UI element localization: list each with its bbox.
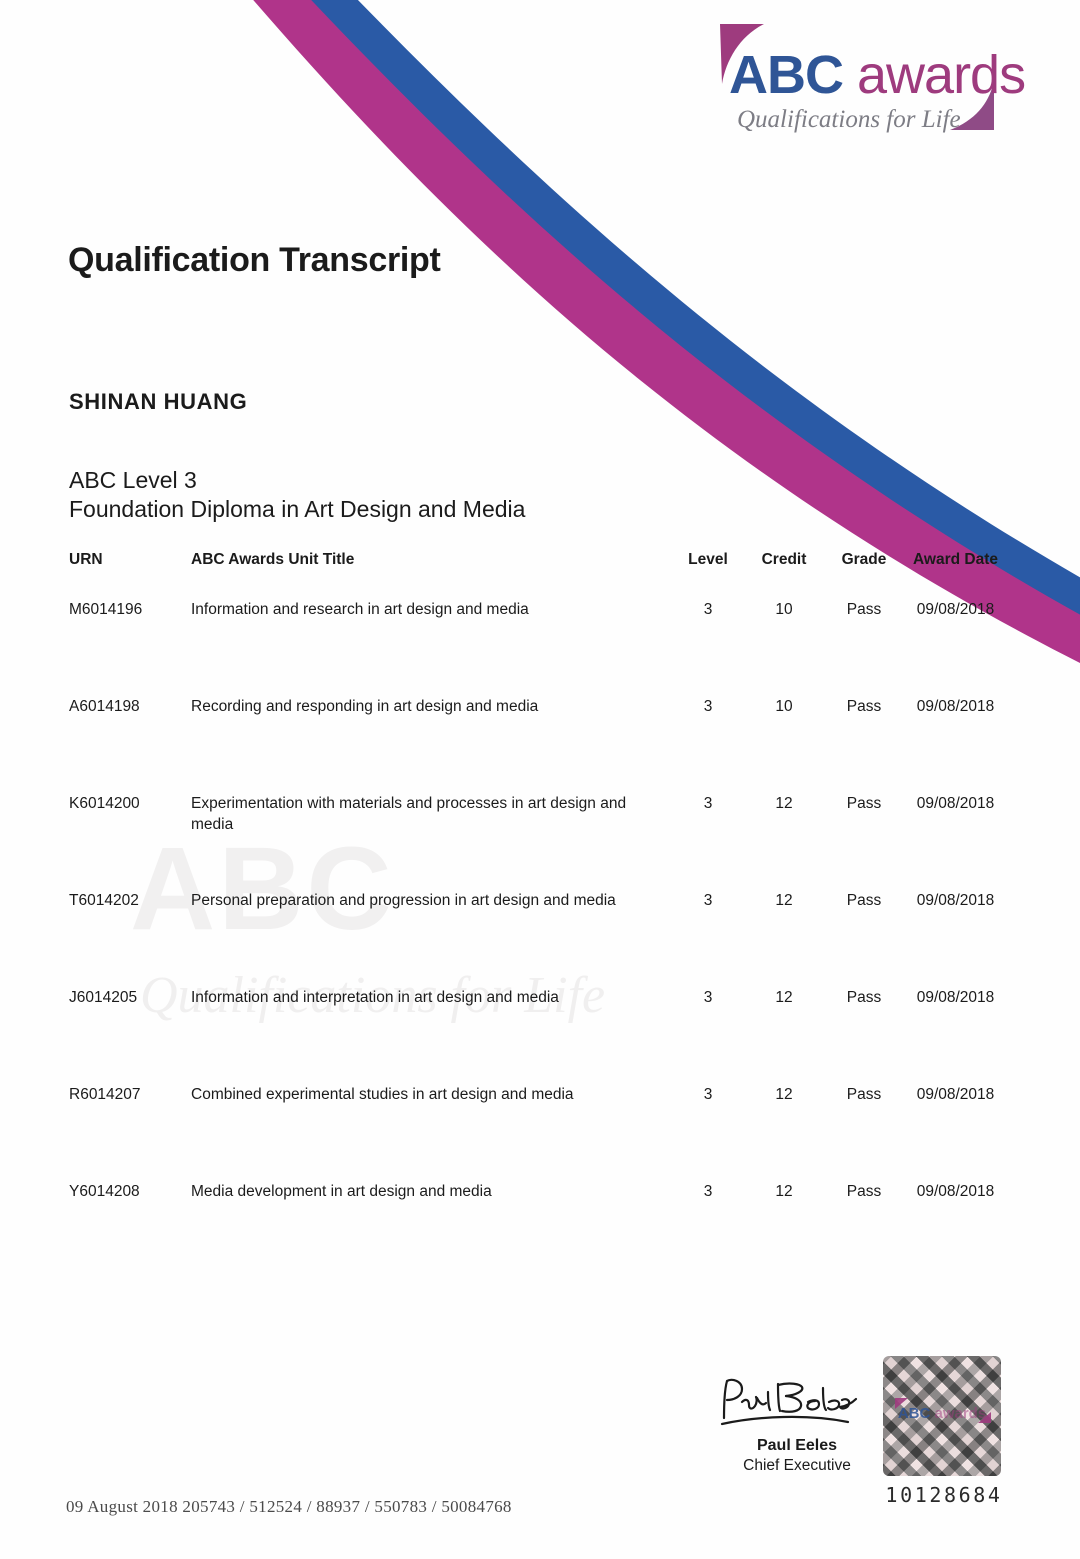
- table-row: J6014205Information and interpretation i…: [69, 987, 1004, 1084]
- cell-unit-title: Experimentation with materials and proce…: [191, 793, 669, 890]
- cell-unit-title: Information and research in art design a…: [191, 599, 669, 696]
- header-level: Level: [669, 551, 747, 599]
- cell-grade: Pass: [821, 1084, 907, 1181]
- header-grade: Grade: [821, 551, 907, 599]
- cell-award-date: 09/08/2018: [907, 1181, 1004, 1278]
- units-table: URN ABC Awards Unit Title Level Credit G…: [69, 551, 1004, 1278]
- table-row: M6014196Information and research in art …: [69, 599, 1004, 696]
- cell-credit: 12: [747, 793, 821, 890]
- abc-awards-logo: ABC awards Qualifications for Life: [702, 22, 1022, 140]
- cell-grade: Pass: [821, 1181, 907, 1278]
- table-header-row: URN ABC Awards Unit Title Level Credit G…: [69, 551, 1004, 599]
- cell-award-date: 09/08/2018: [907, 987, 1004, 1084]
- transcript-page: ABC Qualifications for Life ABC awards Q…: [0, 0, 1080, 1559]
- table-row: T6014202Personal preparation and progres…: [69, 890, 1004, 987]
- header-award-date: Award Date: [907, 551, 1004, 599]
- cell-level: 3: [669, 599, 747, 696]
- cell-unit-title: Information and interpretation in art de…: [191, 987, 669, 1084]
- cell-level: 3: [669, 696, 747, 793]
- cell-level: 3: [669, 793, 747, 890]
- qualification-heading: ABC Level 3 Foundation Diploma in Art De…: [69, 466, 525, 525]
- signatory-name: Paul Eeles: [722, 1436, 872, 1456]
- handwritten-signature: [722, 1372, 872, 1434]
- cell-credit: 12: [747, 1084, 821, 1181]
- table-row: R6014207Combined experimental studies in…: [69, 1084, 1004, 1181]
- logo-abc-text: ABC: [729, 45, 843, 105]
- header-credit: Credit: [747, 551, 821, 599]
- units-table-header: URN ABC Awards Unit Title Level Credit G…: [69, 551, 1004, 599]
- footer-reference-line: 09 August 2018 205743 / 512524 / 88937 /…: [66, 1497, 512, 1517]
- cell-credit: 12: [747, 987, 821, 1084]
- cell-grade: Pass: [821, 793, 907, 890]
- cell-credit: 10: [747, 599, 821, 696]
- cell-level: 3: [669, 1084, 747, 1181]
- cell-credit: 10: [747, 696, 821, 793]
- candidate-name: SHINAN HUANG: [69, 389, 247, 415]
- header-unit-title: ABC Awards Unit Title: [191, 551, 669, 599]
- cell-level: 3: [669, 1181, 747, 1278]
- cell-unit-title: Combined experimental studies in art des…: [191, 1084, 669, 1181]
- cell-urn: M6014196: [69, 599, 191, 696]
- cell-level: 3: [669, 987, 747, 1084]
- logo-awards-text: awards: [843, 45, 1025, 105]
- cell-grade: Pass: [821, 696, 907, 793]
- cell-urn: A6014198: [69, 696, 191, 793]
- hologram-label: ABC awards: [883, 1405, 1001, 1422]
- logo-wordmark: ABC awards: [729, 48, 1025, 102]
- qualification-level: ABC Level 3: [69, 466, 525, 495]
- cell-grade: Pass: [821, 599, 907, 696]
- cell-urn: Y6014208: [69, 1181, 191, 1278]
- cell-award-date: 09/08/2018: [907, 793, 1004, 890]
- cell-credit: 12: [747, 1181, 821, 1278]
- signatory-role: Chief Executive: [722, 1456, 872, 1476]
- table-row: Y6014208Media development in art design …: [69, 1181, 1004, 1278]
- hologram-awards-text: awards: [930, 1405, 986, 1422]
- cell-urn: R6014207: [69, 1084, 191, 1181]
- table-row: K6014200Experimentation with materials a…: [69, 793, 1004, 890]
- cell-unit-title: Recording and responding in art design a…: [191, 696, 669, 793]
- cell-award-date: 09/08/2018: [907, 1084, 1004, 1181]
- cell-credit: 12: [747, 890, 821, 987]
- cell-urn: J6014205: [69, 987, 191, 1084]
- table-row: A6014198Recording and responding in art …: [69, 696, 1004, 793]
- cell-grade: Pass: [821, 890, 907, 987]
- cell-urn: K6014200: [69, 793, 191, 890]
- units-table-body: M6014196Information and research in art …: [69, 599, 1004, 1278]
- cell-urn: T6014202: [69, 890, 191, 987]
- certificate-serial-number: 10128684: [880, 1483, 1008, 1507]
- page-title: Qualification Transcript: [68, 241, 441, 280]
- logo-tagline: Qualifications for Life: [737, 106, 961, 134]
- cell-unit-title: Media development in art design and medi…: [191, 1181, 669, 1278]
- cell-unit-title: Personal preparation and progression in …: [191, 890, 669, 987]
- cell-level: 3: [669, 890, 747, 987]
- hologram-abc-text: ABC: [898, 1405, 931, 1422]
- cell-grade: Pass: [821, 987, 907, 1084]
- cell-award-date: 09/08/2018: [907, 599, 1004, 696]
- cell-award-date: 09/08/2018: [907, 696, 1004, 793]
- header-urn: URN: [69, 551, 191, 599]
- qualification-title: Foundation Diploma in Art Design and Med…: [69, 495, 525, 524]
- security-hologram-seal: ABC awards: [883, 1356, 1001, 1476]
- signature-block: Paul Eeles Chief Executive: [722, 1372, 872, 1476]
- cell-award-date: 09/08/2018: [907, 890, 1004, 987]
